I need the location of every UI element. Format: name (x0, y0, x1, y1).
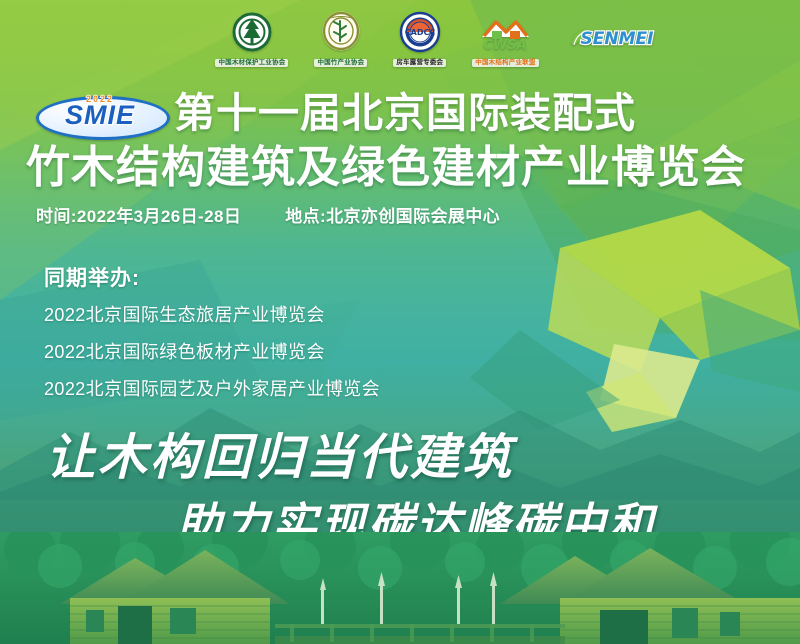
concurrent-event-item: 2022北京国际园艺及户外家居产业博览会 (44, 380, 584, 398)
svg-text:CADCC: CADCC (405, 28, 436, 37)
concurrent-event-item: 2022北京国际生态旅居产业博览会 (44, 306, 584, 324)
house-roof-icon: CWSA (476, 11, 534, 58)
logo-china-wood-protection-association[interactable]: 中国木材保护工业协会 (215, 11, 288, 68)
logo-caption: 中国木结构产业联盟 (472, 59, 538, 68)
event-meta: 时间:2022年3月26日-28日 地点:北京亦创国际会展中心 (36, 202, 776, 227)
partner-logo-strip: 中国木材保护工业协会 中国竹产业协会 (0, 6, 800, 72)
event-venue: 地点:北京亦创国际会展中心 (285, 202, 500, 227)
concurrent-heading: 同期举办: (44, 262, 584, 292)
concurrent-events: 同期举办: 2022北京国际生态旅居产业博览会 2022北京国际绿色板材产业博览… (44, 262, 584, 417)
svg-text:CWSA: CWSA (484, 38, 527, 53)
exhibition-poster: 中国木材保护工业协会 中国竹产业协会 (0, 0, 800, 644)
logo-cadcc-rv-camping-committee[interactable]: CADCC 房车露营专委会 (393, 11, 446, 68)
title-row-1: 2022 SMIE 第十一届北京国际装配式 (0, 86, 800, 140)
tree-in-shield-icon (231, 11, 273, 58)
bamboo-in-oval-icon (321, 11, 361, 58)
smie-acronym: SMIE (36, 101, 164, 129)
title-line-1: 第十一届北京国际装配式 (174, 93, 636, 134)
concurrent-event-item: 2022北京国际绿色板材产业博览会 (44, 343, 584, 361)
slogan-line-1: 让木构回归当代建筑 (46, 418, 514, 489)
title-line-2: 竹木结构建筑及绿色建材产业博览会 (0, 146, 800, 190)
svg-text:SENMEI: SENMEI (580, 29, 653, 49)
headline-block: 2022 SMIE 第十一届北京国际装配式 竹木结构建筑及绿色建材产业博览会 (0, 86, 800, 190)
smie-logo: 2022 SMIE (36, 90, 164, 136)
logo-cwsa-wood-structure-alliance[interactable]: CWSA 中国木结构产业联盟 (472, 11, 538, 68)
logo-senmei[interactable]: SENMEI (565, 22, 661, 57)
event-date: 时间:2022年3月26日-28日 (36, 202, 241, 227)
leaf-wordmark-icon: SENMEI (565, 22, 661, 57)
cadcc-roundel-icon: CADCC (399, 11, 441, 58)
logo-bamboo-industry-association[interactable]: 中国竹产业协会 (314, 11, 367, 68)
logo-caption: 中国木材保护工业协会 (215, 59, 288, 68)
wooden-cabins-photo (0, 532, 800, 644)
logo-caption: 房车露营专委会 (393, 59, 446, 68)
logo-caption: 中国竹产业协会 (314, 59, 367, 68)
